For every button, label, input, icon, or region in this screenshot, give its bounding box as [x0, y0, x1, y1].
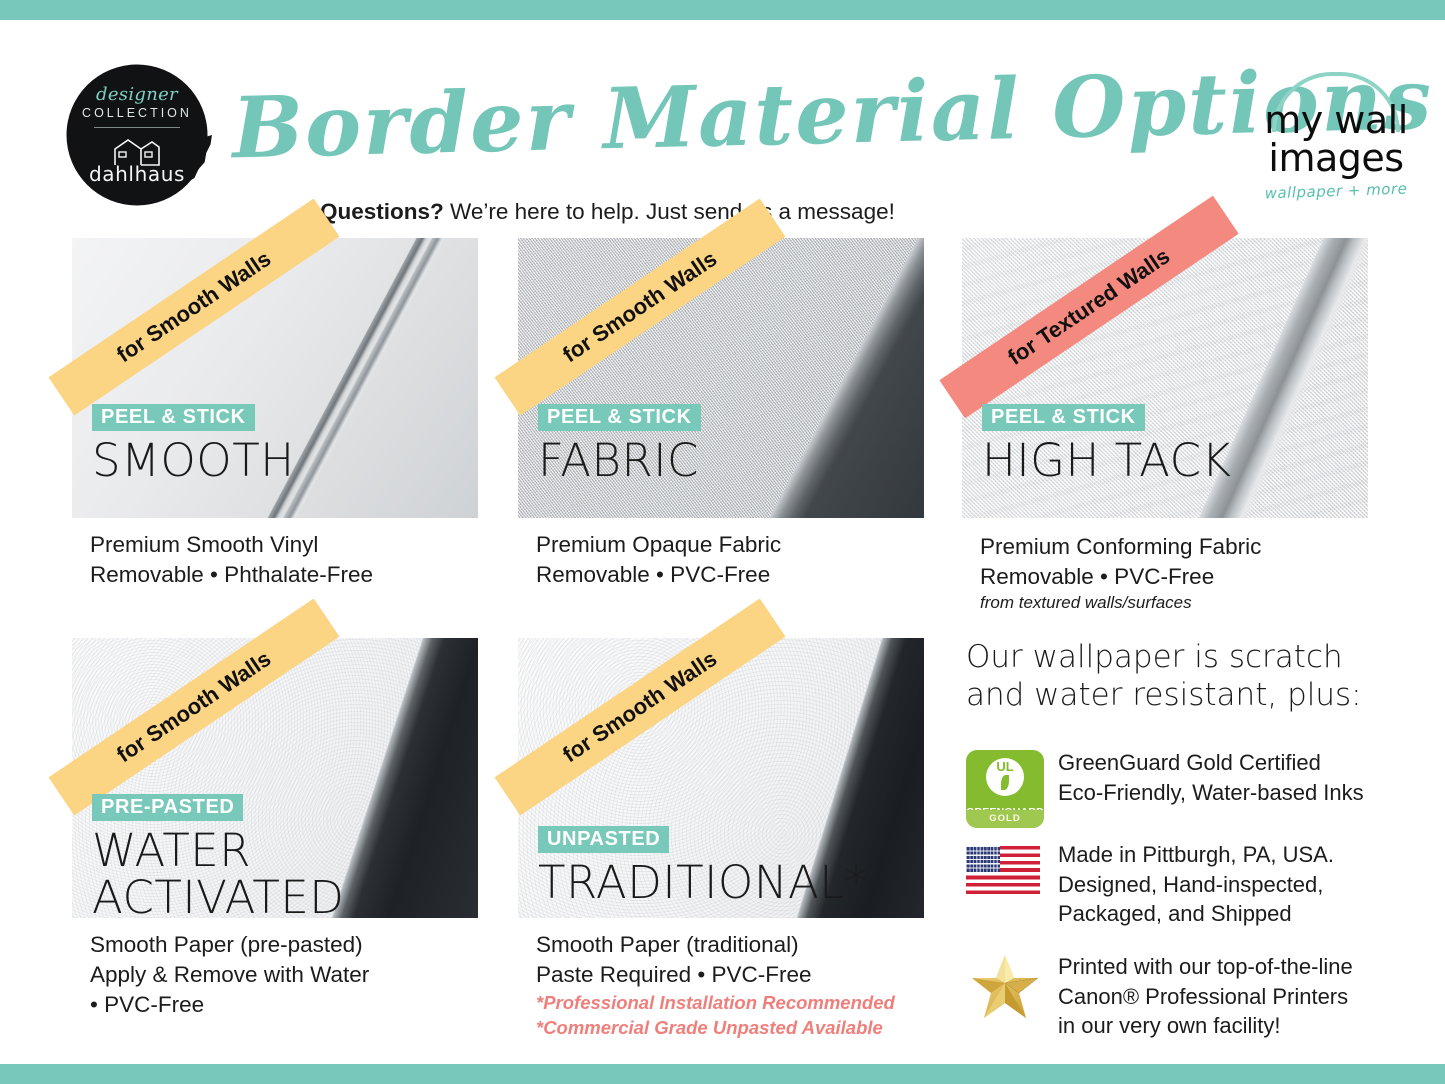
page-header: designer COLLECTION dahlhaus Border Mate…: [0, 20, 1445, 230]
greenguard-gold-icon: UL GREENGUARD GOLD: [966, 750, 1044, 828]
bottom-accent-bar: [0, 1064, 1445, 1084]
top-accent-bar: [0, 0, 1445, 20]
greenguard-gold-band: GOLD: [966, 810, 1044, 828]
info-heading-line-1: Our wallpaper is scratch: [966, 639, 1343, 675]
desc-line-1: Smooth Paper (pre-pasted): [90, 932, 363, 957]
feature-line-1: Printed with our top-of-the-line: [1058, 954, 1353, 979]
desc-line-1: Premium Conforming Fabric: [980, 534, 1261, 559]
material-type-pill: PRE-PASTED: [92, 794, 243, 821]
material-card-smooth[interactable]: for Smooth Walls PEEL & STICK SMOOTH Pre…: [72, 238, 478, 538]
house-icon: [112, 136, 162, 166]
desc-line-1: Premium Opaque Fabric: [536, 532, 781, 557]
desc-line-1: Premium Smooth Vinyl: [90, 532, 318, 557]
logo-line-1: my wall: [1256, 100, 1416, 140]
desc-line-2: Apply & Remove with Water: [90, 962, 369, 987]
feature-line-3: Packaged, and Shipped: [1058, 901, 1292, 926]
material-card-fabric[interactable]: for Smooth Walls PEEL & STICK FABRIC Pre…: [518, 238, 924, 538]
desc-line-2: Paste Required • PVC-Free: [536, 962, 812, 987]
desc-line-3: from textured walls/surfaces: [980, 592, 1261, 614]
feature-line-1: Made in Pittburgh, PA, USA.: [1058, 842, 1334, 867]
material-name: FABRIC: [538, 437, 701, 484]
designer-collection-badge: designer COLLECTION dahlhaus: [62, 60, 212, 210]
desc-line-2: Removable • Phthalate-Free: [90, 562, 373, 587]
material-card-high-tack[interactable]: for Textured Walls PEEL & STICK HIGH TAC…: [962, 238, 1368, 538]
usa-flag-icon: [966, 846, 1040, 894]
material-card-traditional[interactable]: for Smooth Walls UNPASTED TRADITIONAL* S…: [518, 638, 924, 938]
info-heading-line-2: and water resistant, plus:: [966, 677, 1362, 713]
info-heading: Our wallpaper is scratch and water resis…: [966, 638, 1386, 714]
material-name: TRADITIONAL*: [538, 859, 868, 906]
logo-tagline: wallpaper + more: [1256, 179, 1417, 203]
material-type-pill: PEEL & STICK: [538, 404, 701, 431]
feature-line-1: GreenGuard Gold Certified: [1058, 750, 1321, 775]
greenguard-ul-mark: UL: [991, 760, 1019, 773]
material-description: Premium Opaque Fabric Removable • PVC-Fr…: [536, 530, 781, 590]
page-title: Border Material Options: [231, 47, 1164, 190]
gold-star-icon: [968, 952, 1042, 1022]
subtitle-questions-label: Questions?: [320, 199, 444, 224]
badge-divider: [94, 127, 180, 128]
desc-line-3: • PVC-Free: [90, 992, 204, 1017]
subtitle-help-text: We’re here to help. Just send us a messa…: [444, 199, 895, 224]
material-label-block: PEEL & STICK HIGH TACK: [982, 404, 1232, 484]
badge-collection-text: COLLECTION: [82, 107, 192, 120]
desc-note-1: *Professional Installation Recommended: [536, 990, 895, 1015]
desc-line-1: Smooth Paper (traditional): [536, 932, 799, 957]
feature-line-2: Designed, Hand-inspected,: [1058, 872, 1323, 897]
material-type-pill: PEEL & STICK: [982, 404, 1145, 431]
material-type-pill: PEEL & STICK: [92, 404, 255, 431]
feature-text: Made in Pittburgh, PA, USA. Designed, Ha…: [1058, 840, 1334, 929]
material-name: HIGH TACK: [982, 437, 1232, 484]
feature-line-2: Eco-Friendly, Water-based Inks: [1058, 780, 1364, 805]
feature-line-3: in our very own facility!: [1058, 1013, 1281, 1038]
badge-dahlhaus-text: dahlhaus: [89, 164, 185, 184]
material-name: WATER ACTIVATED: [92, 827, 352, 921]
material-description: Smooth Paper (pre-pasted) Apply & Remove…: [90, 930, 369, 1020]
material-label-block: PEEL & STICK FABRIC: [538, 404, 701, 484]
feature-text: Printed with our top-of-the-line Canon® …: [1058, 952, 1353, 1041]
desc-line-2: Removable • PVC-Free: [980, 564, 1214, 589]
material-description: Premium Conforming Fabric Removable • PV…: [980, 532, 1261, 614]
logo-line-2: images: [1256, 138, 1416, 178]
material-description: Premium Smooth Vinyl Removable • Phthala…: [90, 530, 373, 590]
material-label-block: UNPASTED TRADITIONAL*: [538, 826, 868, 906]
material-name: SMOOTH: [92, 437, 295, 484]
material-description: Smooth Paper (traditional) Paste Require…: [536, 930, 895, 1040]
feature-text: GreenGuard Gold Certified Eco-Friendly, …: [1058, 748, 1364, 807]
material-card-water-activated[interactable]: for Smooth Walls PRE-PASTED WATER ACTIVA…: [72, 638, 478, 938]
badge-designer-text: designer: [96, 86, 178, 104]
material-label-block: PEEL & STICK SMOOTH: [92, 404, 295, 484]
desc-note-2: *Commercial Grade Unpasted Available: [536, 1015, 895, 1040]
page-subtitle: Questions? We’re here to help. Just send…: [320, 200, 1080, 225]
my-wall-images-logo[interactable]: my wall images wallpaper + more: [1256, 72, 1416, 212]
desc-line-2: Removable • PVC-Free: [536, 562, 770, 587]
material-type-pill: UNPASTED: [538, 826, 669, 853]
flag-canton: [966, 846, 1000, 872]
feature-line-2: Canon® Professional Printers: [1058, 984, 1348, 1009]
material-label-block: PRE-PASTED WATER ACTIVATED: [92, 794, 352, 921]
